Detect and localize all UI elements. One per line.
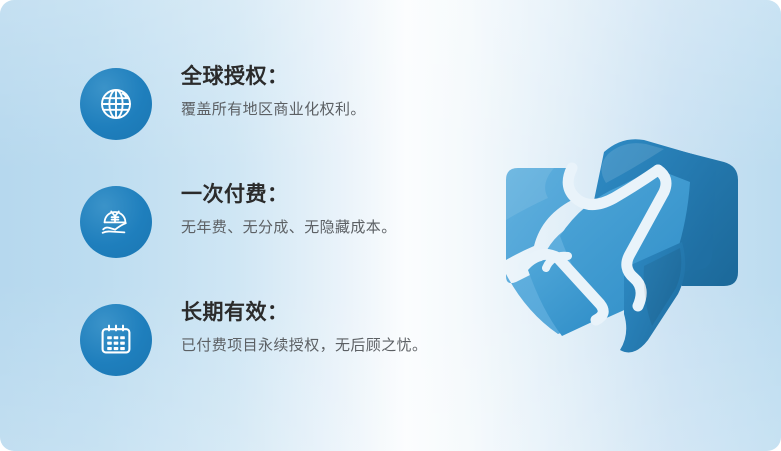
feature-list: 全球授权： 覆盖所有地区商业化权利。	[80, 64, 480, 386]
feature-title: 长期有效：	[181, 300, 427, 326]
feature-description: 无年费、无分成、无隐藏成本。	[181, 218, 397, 238]
license-benefits-card: 全球授权： 覆盖所有地区商业化权利。	[0, 0, 781, 451]
globe-icon	[96, 84, 136, 124]
feature-text-long-term-validity: 长期有效： 已付费项目永续授权，无后顾之忧。	[181, 300, 427, 357]
feature-title: 一次付费：	[181, 182, 397, 208]
feature-description: 覆盖所有地区商业化权利。	[181, 100, 366, 120]
feature-description: 已付费项目永续授权，无后顾之忧。	[181, 336, 427, 356]
globe-icon-badge	[80, 68, 152, 140]
hand-holding-yuan-coin-icon	[96, 202, 136, 242]
feature-item-long-term-validity: 长期有效： 已付费项目永续授权，无后顾之忧。	[80, 300, 480, 386]
handshake-graphic	[488, 118, 760, 358]
calendar-icon	[96, 320, 136, 360]
feature-item-one-time-payment: 一次付费： 无年费、无分成、无隐藏成本。	[80, 182, 480, 268]
calendar-icon-badge	[80, 304, 152, 376]
feature-item-global-license: 全球授权： 覆盖所有地区商业化权利。	[80, 64, 480, 150]
feature-text-one-time-payment: 一次付费： 无年费、无分成、无隐藏成本。	[181, 182, 397, 239]
handshake-illustration	[488, 118, 760, 358]
feature-text-global-license: 全球授权： 覆盖所有地区商业化权利。	[181, 64, 366, 121]
hand-holding-yuan-coin-icon-badge	[80, 186, 152, 258]
feature-title: 全球授权：	[181, 64, 366, 90]
